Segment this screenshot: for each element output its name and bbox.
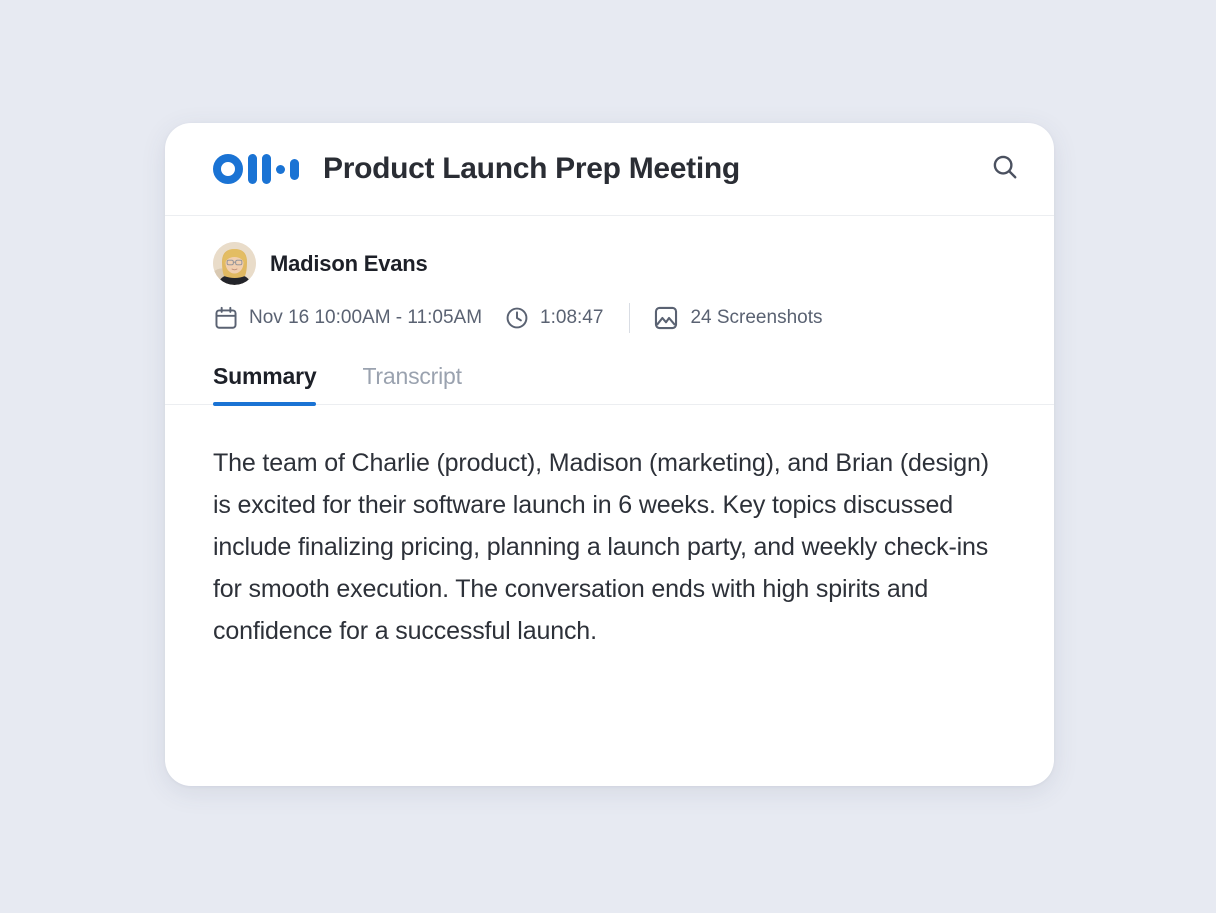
meeting-duration: 1:08:47 <box>504 305 603 331</box>
meeting-duration-label: 1:08:47 <box>540 307 603 329</box>
tab-summary[interactable]: Summary <box>213 363 316 404</box>
screenshots-count: 24 Screenshots <box>652 304 822 332</box>
speaker-name: Madison Evans <box>270 251 428 277</box>
speaker-row: Madison Evans <box>213 242 1006 285</box>
calendar-icon <box>213 305 239 331</box>
logo-bar-3-icon <box>290 159 299 180</box>
meeting-metadata: Nov 16 10:00AM - 11:05AM 1:08:47 <box>213 303 1006 333</box>
tab-transcript[interactable]: Transcript <box>362 363 461 404</box>
card-header: Product Launch Prep Meeting <box>165 123 1054 216</box>
search-icon <box>990 152 1020 187</box>
logo-dot-icon <box>276 165 285 174</box>
tab-bar: Summary Transcript <box>165 363 1054 405</box>
avatar <box>213 242 256 285</box>
meeting-date: Nov 16 10:00AM - 11:05AM <box>213 305 482 331</box>
screenshots-count-label: 24 Screenshots <box>690 307 822 329</box>
logo-bar-2-icon <box>262 154 271 184</box>
otter-ai-logo[interactable] <box>213 154 299 184</box>
logo-bar-1-icon <box>248 154 257 184</box>
clock-icon <box>504 305 530 331</box>
summary-body: The team of Charlie (product), Madison (… <box>213 442 1003 652</box>
logo-ring-icon <box>213 154 243 184</box>
meta-divider <box>629 303 630 333</box>
logo-bars <box>248 154 299 184</box>
meeting-date-label: Nov 16 10:00AM - 11:05AM <box>249 307 482 329</box>
page-title: Product Launch Prep Meeting <box>323 152 984 186</box>
image-icon <box>652 304 680 332</box>
meeting-card: Product Launch Prep Meeting <box>165 123 1054 786</box>
card-body: Madison Evans Nov 16 10:00AM - 11:05AM <box>165 216 1054 652</box>
search-button[interactable] <box>984 148 1026 190</box>
